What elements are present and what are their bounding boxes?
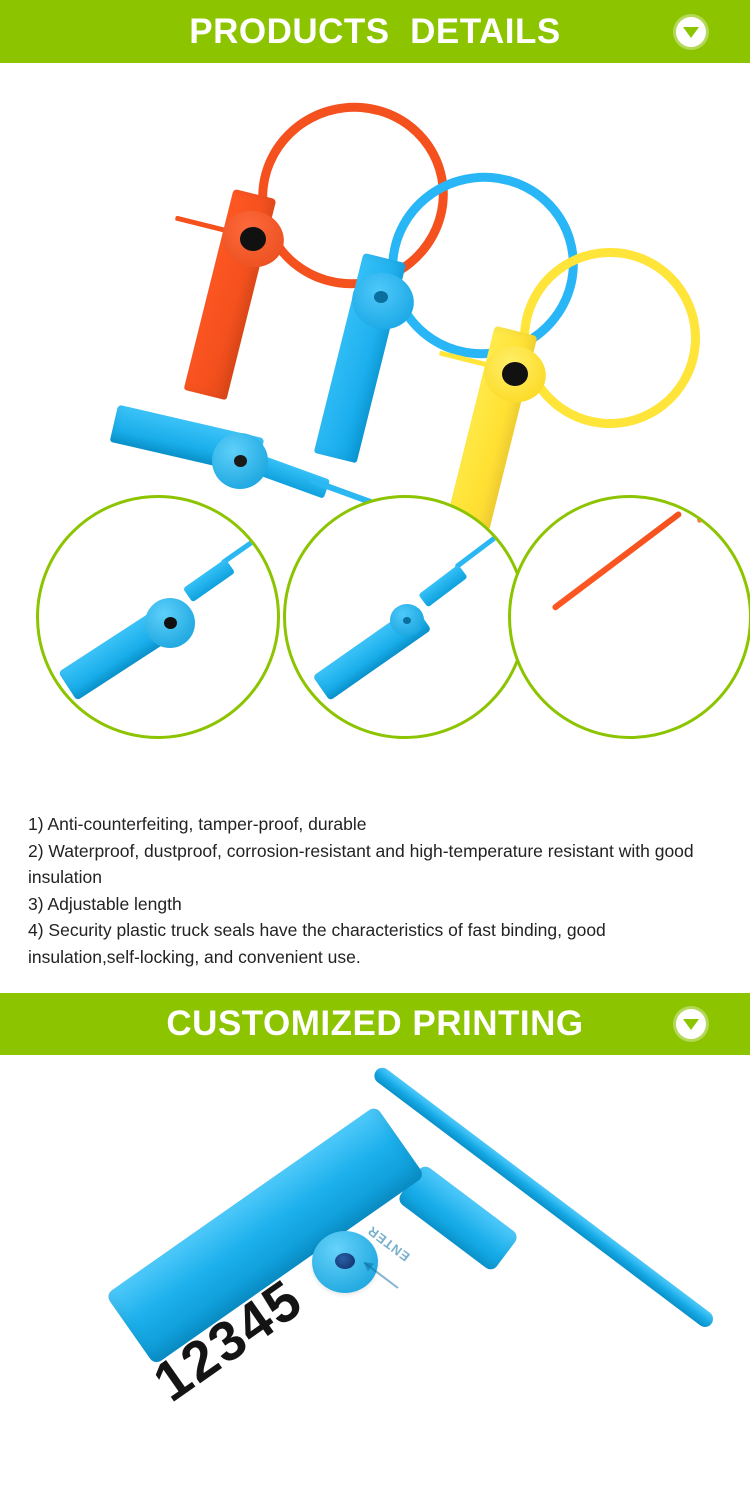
section-banner-products-details: PRODUCTS DETAILS	[0, 0, 750, 63]
seal-lock-hole	[164, 617, 177, 629]
expand-badge-customized-printing[interactable]	[676, 1009, 706, 1039]
product-photo	[0, 63, 750, 783]
detail-strap-tail-orange	[551, 510, 682, 611]
seal-lock-hole	[240, 227, 266, 251]
detail-circle-lock-head	[36, 495, 280, 739]
seal-lock-hole	[502, 362, 528, 386]
expand-badge-products-details[interactable]	[676, 17, 706, 47]
detail-seal-body	[310, 542, 527, 722]
seal-lock-hole	[403, 617, 411, 624]
product-detail-page: PRODUCTS DETAILS	[0, 0, 750, 1488]
section-banner-customized-printing: CUSTOMIZED PRINTING	[0, 993, 750, 1055]
seal-neck	[418, 565, 468, 608]
product-features-list: 1) Anti-counterfeiting, tamper-proof, du…	[0, 783, 750, 993]
feature-item-2: 2) Waterproof, dustproof, corrosion-resi…	[28, 838, 722, 891]
customized-printing-photo: ENTER 12345	[0, 1055, 750, 1488]
page-title-customized-printing: CUSTOMIZED PRINTING	[166, 1006, 583, 1041]
seal-lock-hole	[234, 455, 247, 467]
chevron-down-icon	[683, 1019, 699, 1030]
seal-lock-hole	[374, 291, 388, 303]
page-title-products-details: PRODUCTS DETAILS	[189, 14, 560, 49]
seal-lock-pin	[335, 1253, 355, 1269]
seal-neck	[183, 559, 235, 603]
feature-item-4: 4) Security plastic truck seals have the…	[28, 917, 722, 970]
chevron-down-icon	[683, 27, 699, 38]
detail-seal-lock-head	[57, 542, 277, 722]
seal-strap-tail	[454, 532, 502, 570]
feature-item-1: 1) Anti-counterfeiting, tamper-proof, du…	[28, 811, 722, 838]
detail-circle-seal-body	[283, 495, 527, 739]
feature-item-3: 3) Adjustable length	[28, 891, 722, 918]
detail-circle-strap-tail	[508, 495, 750, 739]
